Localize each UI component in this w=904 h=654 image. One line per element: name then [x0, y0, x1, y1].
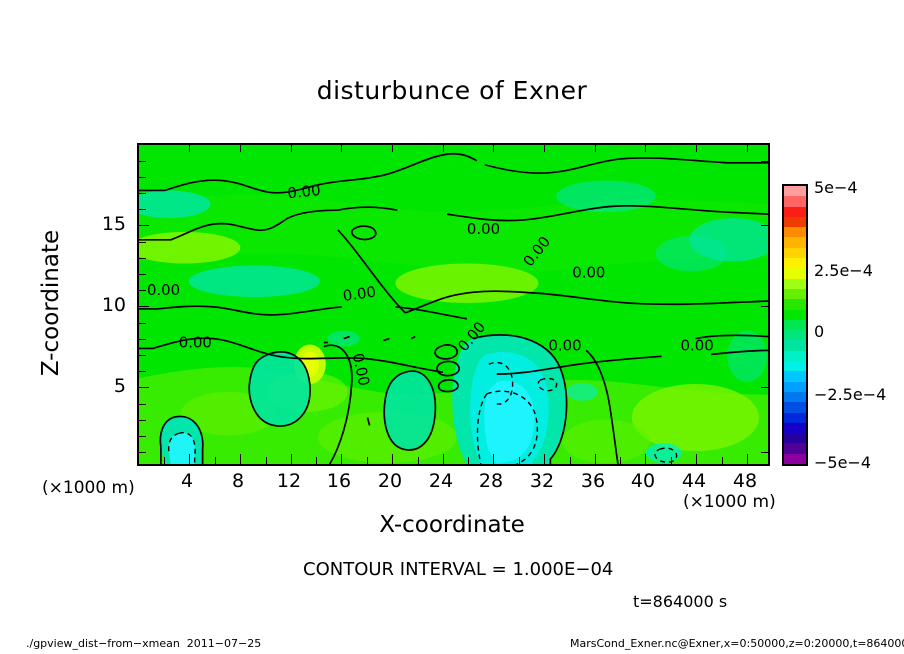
colorbar-band — [784, 371, 806, 381]
contour-label: 0.00 — [572, 263, 605, 281]
contour-label: 0.00 — [147, 281, 180, 299]
contour-interval-caption: CONTOUR INTERVAL = 1.000E−04 — [303, 559, 613, 580]
footer-command: ./gpview_dist−from−xmean 2011−07−25 — [26, 637, 261, 650]
colorbar-label-min: −5e−4 — [814, 453, 871, 472]
colorbar-band — [784, 320, 806, 330]
ytick-label: 15 — [82, 213, 126, 235]
colorbar-band — [784, 454, 806, 464]
colorbar-band — [784, 248, 806, 258]
colorbar-band — [784, 402, 806, 412]
xtick-label: 28 — [469, 470, 513, 492]
x-axis-units: (×1000 m) — [683, 492, 776, 512]
colorbar-band — [784, 279, 806, 289]
page-title: disturbunce of Exner — [0, 76, 904, 105]
xtick-label: 40 — [621, 470, 665, 492]
contour-label: 0.00 — [179, 334, 212, 352]
xtick-label: 12 — [267, 470, 311, 492]
colorbar-band — [784, 340, 806, 350]
y-axis-units: (×1000 m) — [42, 478, 135, 498]
colorbar-band — [784, 310, 806, 320]
colorbar-band — [784, 237, 806, 247]
xtick-label: 8 — [216, 470, 260, 492]
contour-field: 0.00 0.00 0.00 0.00 0.00 0.00 0.00 0.00 … — [139, 145, 768, 464]
colorbar-band — [784, 361, 806, 371]
colorbar[interactable] — [782, 184, 808, 466]
colorbar-band — [784, 217, 806, 227]
y-axis-title: Z-coordinate — [38, 188, 64, 418]
xtick-label: 20 — [368, 470, 412, 492]
colorbar-band — [784, 258, 806, 268]
colorbar-band — [784, 227, 806, 237]
xtick-label: 16 — [317, 470, 361, 492]
colorbar-band — [784, 207, 806, 217]
colorbar-label-zero: 0 — [814, 322, 824, 341]
colorbar-band — [784, 423, 806, 433]
plot-canvas: disturbunce of Exner — [0, 0, 904, 654]
colorbar-band — [784, 351, 806, 361]
xtick-label: 24 — [419, 470, 463, 492]
xtick-label: 44 — [672, 470, 716, 492]
contour-label: 0.00 — [287, 181, 322, 202]
ytick-label: 10 — [82, 294, 126, 316]
colorbar-label-lower-mid: −2.5e−4 — [814, 385, 886, 404]
colorbar-band — [784, 196, 806, 206]
footer-source: MarsCond_Exner.nc@Exner,x=0:50000,z=0:20… — [570, 637, 904, 650]
colorbar-band — [784, 433, 806, 443]
colorbar-label-max: 5e−4 — [814, 178, 858, 197]
colorbar-band — [784, 268, 806, 278]
contour-label: 0.00 — [681, 336, 714, 354]
colorbar-band — [784, 413, 806, 423]
x-axis-title: X-coordinate — [0, 512, 904, 538]
ytick-label: 5 — [82, 375, 126, 397]
xtick-label: 48 — [723, 470, 767, 492]
colorbar-band — [784, 382, 806, 392]
contour-label: 0.00 — [467, 220, 500, 238]
xtick-label: 4 — [165, 470, 209, 492]
colorbar-band — [784, 330, 806, 340]
colorbar-band — [784, 186, 806, 196]
xtick-label: 32 — [520, 470, 564, 492]
contour-plot-area[interactable]: 0.00 0.00 0.00 0.00 0.00 0.00 0.00 0.00 … — [137, 143, 770, 466]
contour-label: 0.00 — [548, 336, 581, 354]
colorbar-band — [784, 443, 806, 453]
colorbar-band — [784, 392, 806, 402]
colorbar-label-upper-mid: 2.5e−4 — [814, 261, 873, 280]
time-caption: t=864000 s — [633, 592, 727, 611]
colorbar-band — [784, 289, 806, 299]
colorbar-band — [784, 299, 806, 309]
xtick-label: 36 — [571, 470, 615, 492]
